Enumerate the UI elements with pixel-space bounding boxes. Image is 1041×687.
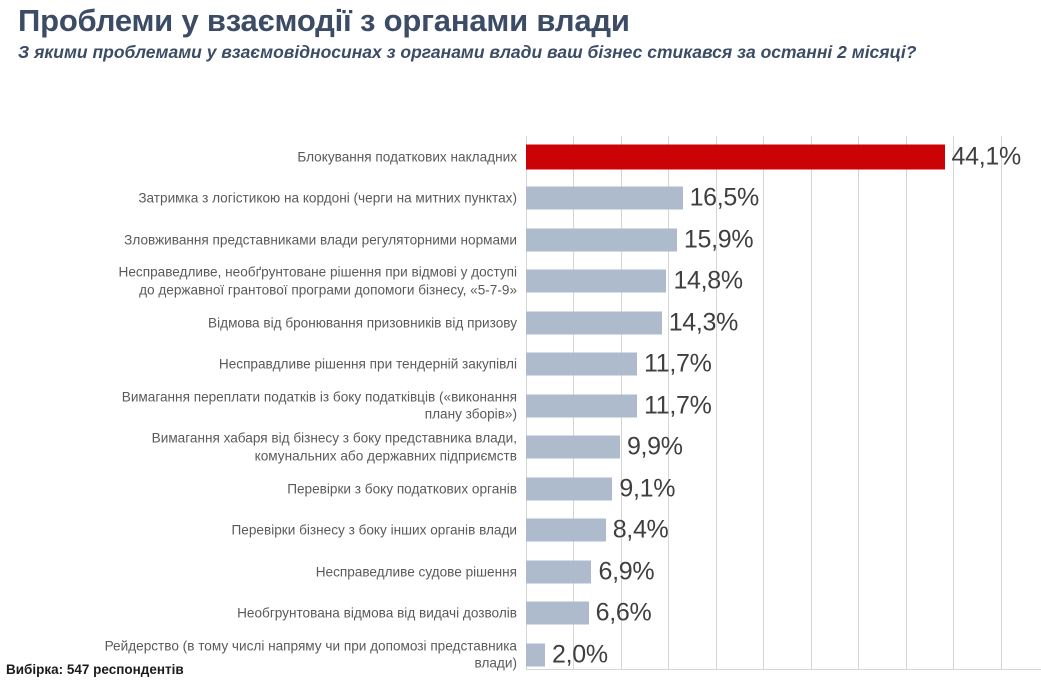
chart-row: Відмова від бронювання призовників від п… (0, 302, 1041, 344)
chart-row: Вимагання хабаря від бізнесу з боку пред… (0, 427, 1041, 469)
bar-category-label: Зловживання представниками влади регулят… (0, 231, 517, 248)
bar-category-label: Несправдливе рішення при тендерній закуп… (0, 356, 517, 373)
bar (526, 602, 589, 625)
bar (526, 353, 637, 376)
chart-row: Блокування податкових накладних44,1% (0, 136, 1041, 178)
chart-subtitle: З якими проблемами у взаємовідносинах з … (18, 41, 1028, 63)
bar-value-label: 9,9% (627, 433, 683, 462)
bar (526, 311, 662, 334)
chart-row: Перевірки бізнесу з боку інших органів в… (0, 510, 1041, 552)
chart-row: Необгрунтована відмова від видачі дозвол… (0, 593, 1041, 635)
bar-value-label: 44,1% (952, 142, 1021, 171)
bar-category-label: Блокування податкових накладних (0, 148, 517, 165)
bar-category-label: Перевірки з боку податкових органів (0, 480, 517, 497)
bar-value-label: 16,5% (690, 184, 759, 213)
bar-category-label: Вимагання хабаря від бізнесу з боку пред… (0, 430, 517, 465)
chart-row: Перевірки з боку податкових органів9,1% (0, 468, 1041, 510)
chart-row: Затримка з логістикою на кордоні (черги … (0, 178, 1041, 220)
chart-header: Проблеми у взаємодії з органами влади З … (18, 4, 1028, 64)
bar (526, 144, 945, 169)
bar-value-label: 15,9% (684, 225, 753, 254)
bar-value-label: 14,3% (669, 308, 738, 337)
bar (526, 187, 683, 210)
bar-category-label: Затримка з логістикою на кордоні (черги … (0, 190, 517, 207)
chart-row: Несправедливе, необґрунтоване рішення пр… (0, 261, 1041, 303)
bar-value-label: 2,0% (552, 640, 608, 669)
chart-row: Несправедливе судове рішення6,9% (0, 551, 1041, 593)
bar (526, 436, 620, 459)
bar-value-label: 6,6% (596, 599, 652, 628)
bar-value-label: 8,4% (613, 516, 669, 545)
bar-category-label: Несправедливе судове рішення (0, 563, 517, 580)
bar (526, 394, 637, 417)
bar-category-label: Перевірки бізнесу з боку інших органів в… (0, 522, 517, 539)
sample-size-note: Вибірка: 547 респондентів (6, 662, 184, 677)
bar-value-label: 11,7% (644, 391, 712, 420)
bar (526, 560, 591, 583)
bar (526, 519, 606, 542)
bar-category-label: Несправедливе, необґрунтоване рішення пр… (0, 264, 517, 299)
bar-value-label: 11,7% (644, 350, 712, 379)
bar (526, 477, 612, 500)
bar (526, 643, 545, 666)
chart-row: Несправдливе рішення при тендерній закуп… (0, 344, 1041, 386)
page-title: Проблеми у взаємодії з органами влади (18, 4, 1028, 37)
chart-plot-area: Блокування податкових накладних44,1%Затр… (0, 136, 1041, 674)
bar-value-label: 14,8% (673, 267, 742, 296)
bar (526, 228, 677, 251)
bar (526, 270, 666, 293)
bar-value-label: 6,9% (598, 557, 654, 586)
bar-value-label: 9,1% (619, 474, 675, 503)
chart-row: Вимагання переплати податків із боку под… (0, 385, 1041, 427)
bar-category-label: Відмова від бронювання призовників від п… (0, 314, 517, 331)
bar-category-label: Вимагання переплати податків із боку под… (0, 388, 517, 423)
chart-row: Зловживання представниками влади регулят… (0, 219, 1041, 261)
bar-category-label: Необгрунтована відмова від видачі дозвол… (0, 605, 517, 622)
